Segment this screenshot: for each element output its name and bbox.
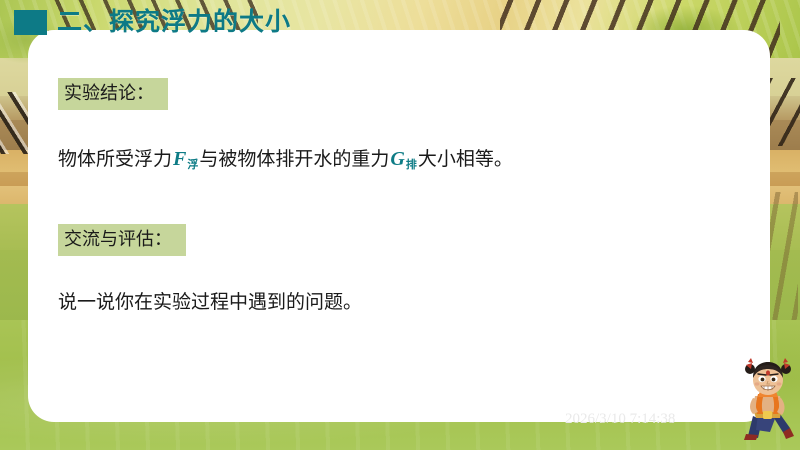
symbol-buoyant-force-sub: 浮 xyxy=(186,159,198,171)
section-heading-discussion: 交流与评估： xyxy=(58,224,186,256)
conclusion-text-2: 与被物体排开水的重力 xyxy=(199,149,389,170)
square-bullet-icon xyxy=(14,10,47,35)
section-discussion: 交流与评估： 说一说你在实验过程中遇到的问题。 xyxy=(58,224,718,316)
symbol-displaced-weight-sub: 排 xyxy=(405,159,417,171)
conclusion-text-3: 大小相等。 xyxy=(418,149,513,170)
conclusion-text-1: 物体所受浮力 xyxy=(58,149,172,170)
symbol-buoyant-force: F浮 xyxy=(172,148,199,170)
symbol-displaced-weight-base: G xyxy=(390,148,404,170)
section-heading-conclusion: 实验结论： xyxy=(58,78,168,110)
nezha-character-icon xyxy=(740,358,796,442)
timestamp-watermark: 2026/3/10 7:14:38 xyxy=(565,411,675,428)
content-body: 实验结论： 物体所受浮力F浮与被物体排开水的重力G排大小相等。 交流与评估： 说… xyxy=(58,78,718,316)
page-title: 二、探究浮力的大小 xyxy=(57,10,291,35)
slide-canvas: 二、探究浮力的大小 实验结论： 物体所受浮力F浮与被物体排开水的重力G排大小相等… xyxy=(0,0,800,450)
discussion-paragraph: 说一说你在实验过程中遇到的问题。 xyxy=(58,290,718,317)
slide-title: 二、探究浮力的大小 xyxy=(14,10,291,35)
conclusion-paragraph: 物体所受浮力F浮与被物体排开水的重力G排大小相等。 xyxy=(58,145,718,174)
symbol-displaced-weight: G排 xyxy=(389,148,417,170)
symbol-buoyant-force-base: F xyxy=(173,148,186,170)
section-conclusion: 实验结论： 物体所受浮力F浮与被物体排开水的重力G排大小相等。 xyxy=(58,78,718,173)
